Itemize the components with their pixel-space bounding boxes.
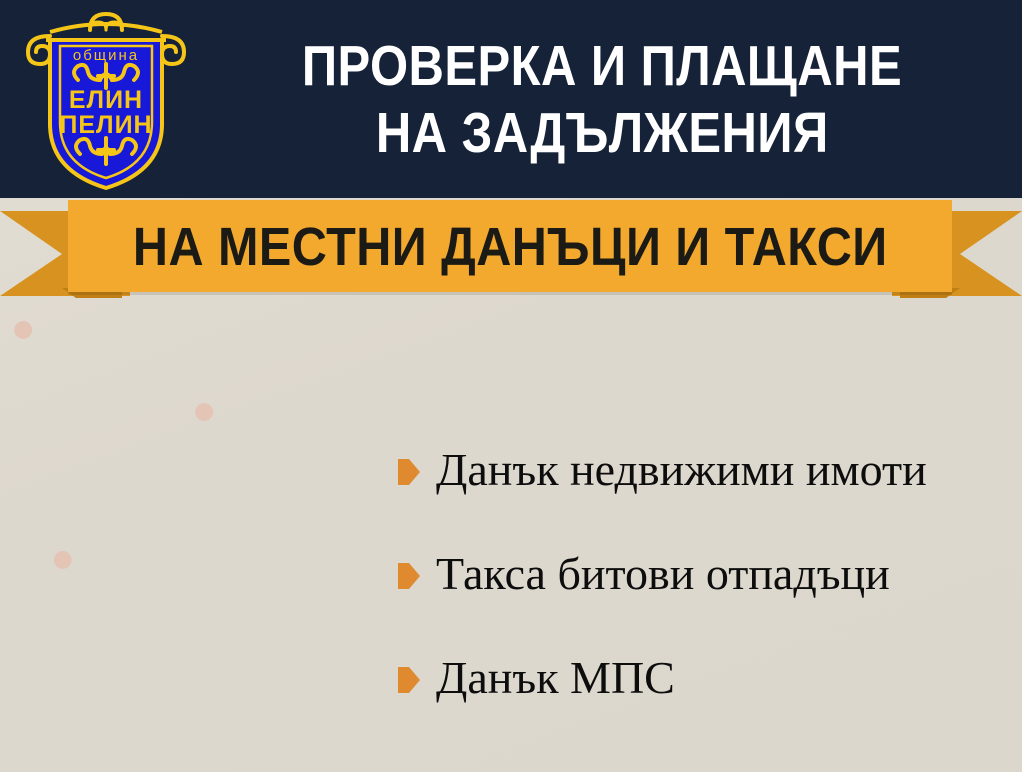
logo-line-3: ПЕЛИН xyxy=(59,111,152,139)
stamp-paper xyxy=(31,321,209,494)
bullet-arrow-icon xyxy=(398,459,420,485)
logo-line-1: община xyxy=(73,47,139,64)
ribbon-label: НА МЕСТНИ ДАНЪЦИ И ТАКСИ xyxy=(133,218,888,274)
ribbon-panel: НА МЕСТНИ ДАНЪЦИ И ТАКСИ xyxy=(68,200,952,292)
car-front-icon xyxy=(114,577,247,693)
list-item[interactable]: Такса битови отпадъци xyxy=(398,522,1022,626)
list-item[interactable]: Данък недвижими имоти xyxy=(398,418,1022,522)
list-item-label: Данък МПС xyxy=(436,655,675,701)
bullet-arrow-icon xyxy=(398,563,420,589)
title-line-2: НА ЗАДЪЛЖЕНИЯ xyxy=(376,100,829,167)
stamp-collage xyxy=(0,300,420,772)
coat-of-arms-icon: община ЕЛИН ПЕЛИН xyxy=(20,6,192,192)
logo-line-2: ЕЛИН xyxy=(69,86,143,114)
stamp-paper xyxy=(71,527,291,745)
header-banner: община ЕЛИН ПЕЛИН ПРОВЕРКА И ПЛАЩАНЕ НА … xyxy=(0,0,1022,198)
house-icon xyxy=(62,354,179,460)
bullet-arrow-icon xyxy=(398,667,420,693)
list-item[interactable]: Данък МПС xyxy=(398,626,1022,730)
municipality-logo: община ЕЛИН ПЕЛИН xyxy=(20,6,192,192)
page-title: ПРОВЕРКА И ПЛАЩАНЕ НА ЗАДЪЛЖЕНИЯ xyxy=(196,12,1008,188)
list-item-label: Данък недвижими имоти xyxy=(436,447,927,493)
poster-canvas: община ЕЛИН ПЕЛИН ПРОВЕРКА И ПЛАЩАНЕ НА … xyxy=(0,0,1022,772)
list-item-label: Такса битови отпадъци xyxy=(436,551,890,597)
stamp-card-car xyxy=(52,508,310,764)
tax-type-list: Данък недвижими имоти Такса битови отпад… xyxy=(398,418,1022,730)
title-line-1: ПРОВЕРКА И ПЛАЩАНЕ xyxy=(302,33,902,100)
subtitle-ribbon: НА МЕСТНИ ДАНЪЦИ И ТАКСИ xyxy=(0,190,1022,305)
